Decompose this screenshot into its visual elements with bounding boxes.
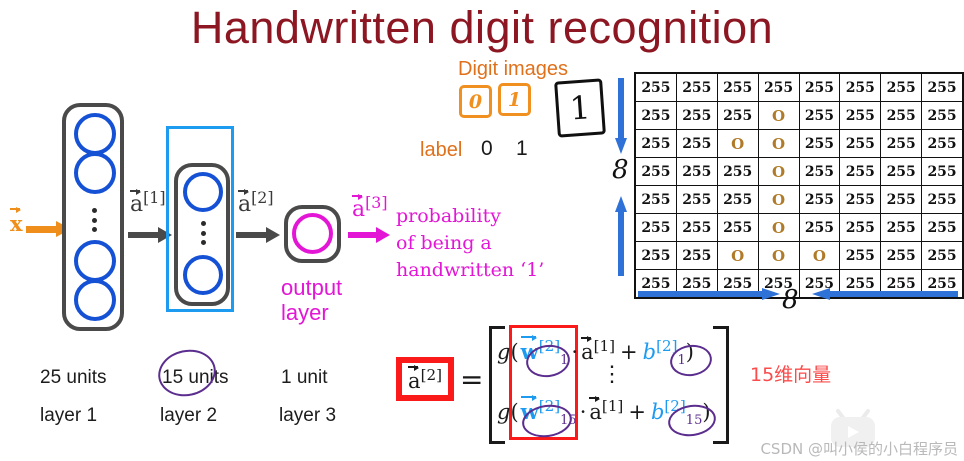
equation-plus-1: +	[620, 340, 638, 364]
label-value-0: 0	[481, 137, 493, 161]
output-layer-caption: output layer	[281, 275, 391, 325]
pixel-cell-3-3: O	[717, 130, 758, 158]
digit-sample-1: 1	[498, 83, 531, 116]
pixel-cell-6-3: 255	[717, 214, 758, 242]
pixel-cell-6-7: 255	[881, 214, 922, 242]
label-value-1: 1	[516, 137, 528, 161]
pixel-cell-4-1: 255	[635, 158, 676, 186]
pixel-cell-3-8: 255	[922, 130, 963, 158]
units-caption-layer3: 1 unit	[281, 367, 327, 389]
layer-1-node-2	[74, 152, 116, 194]
vector-dimension-note: 15维向量	[750, 360, 831, 387]
pixel-cell-6-4: O	[758, 214, 799, 242]
a2-label: a[2]	[238, 188, 274, 217]
equation-equals: =	[460, 363, 483, 396]
grid-width-label: 8	[782, 285, 799, 315]
grid-width-arrow-left	[812, 288, 960, 300]
output-layer-line-1: output	[281, 275, 391, 300]
output-arrow	[348, 228, 394, 242]
pixel-cell-5-3: 255	[717, 186, 758, 214]
pixel-cell-5-8: 255	[922, 186, 963, 214]
pixel-cell-3-2: 255	[676, 130, 717, 158]
equation-b-15: b	[651, 400, 664, 424]
layer-caption-3: layer 3	[279, 405, 336, 427]
equation-plus-15: +	[628, 400, 646, 424]
equation-a1-sup-1: [1]	[594, 337, 615, 355]
layer-1-ellipsis	[91, 208, 97, 232]
handwritten-digit-card: 1	[554, 78, 606, 137]
output-node	[292, 213, 333, 254]
grid-height-arrow-up	[615, 196, 627, 276]
pixel-cell-3-7: 255	[881, 130, 922, 158]
pixel-cell-2-2: 255	[676, 102, 717, 130]
pixel-grid-row: 255255OOO255255255	[635, 242, 963, 270]
layer-1-node-25	[74, 279, 116, 321]
equation-lhs: a	[408, 369, 421, 393]
pixel-cell-2-4: O	[758, 102, 799, 130]
circle-annotation-15-units	[154, 344, 220, 401]
probability-line-3: handwritten ‘1’	[396, 257, 586, 284]
pixel-cell-6-2: 255	[676, 214, 717, 242]
equation-dot-15: ·	[580, 400, 587, 424]
pixel-cell-4-4: O	[758, 158, 799, 186]
pixel-cell-1-3: 255	[717, 73, 758, 102]
pixel-cell-4-3: 255	[717, 158, 758, 186]
label-caption: label	[420, 139, 462, 162]
a2-highlight-box: a[2]	[396, 357, 454, 401]
layer-2-ellipsis	[200, 221, 206, 245]
equation-g-1: g	[497, 340, 510, 364]
pixel-cell-7-2: 255	[676, 242, 717, 270]
pixel-cell-2-1: 255	[635, 102, 676, 130]
digit-sample-0: 0	[459, 85, 492, 118]
pixel-cell-6-6: 255	[840, 214, 881, 242]
pixel-cell-5-4: O	[758, 186, 799, 214]
layer-1-node-24	[74, 240, 116, 282]
arrow-layer2-to-layer3	[236, 228, 282, 242]
equation-a1-sup-15: [1]	[602, 397, 623, 415]
pixel-cell-6-1: 255	[635, 214, 676, 242]
page-title: Handwritten digit recognition	[0, 0, 964, 58]
equation-vdots: ⋮	[601, 362, 623, 387]
pixel-cell-6-8: 255	[922, 214, 963, 242]
pixel-grid-row: 255255255O255255255255	[635, 102, 963, 130]
pixel-cell-5-7: 255	[881, 186, 922, 214]
pixel-cell-1-5: 255	[799, 73, 840, 102]
bracket-right	[713, 326, 729, 444]
digit-images-heading: Digit images	[458, 58, 568, 81]
watermark-text: CSDN @叫小侯的小白程序员	[760, 438, 958, 459]
pixel-cell-4-8: 255	[922, 158, 963, 186]
pixel-grid-row: 255255255O255255255255	[635, 186, 963, 214]
pixel-cell-7-4: O	[758, 242, 799, 270]
probability-text: probability of being a handwritten ‘1’	[396, 203, 586, 284]
pixel-grid-row: 255255255255255255255255	[635, 73, 963, 102]
pixel-grid-row: 255255255O255255255255	[635, 214, 963, 242]
pixel-cell-3-5: 255	[799, 130, 840, 158]
output-layer-line-2: layer	[281, 300, 391, 325]
equation-open-paren-15: (	[510, 400, 518, 424]
pixel-cell-1-4: 255	[758, 73, 799, 102]
pixel-cell-7-3: O	[717, 242, 758, 270]
pixel-grid-row: 255255255O255255255255	[635, 158, 963, 186]
pixel-cell-2-6: 255	[840, 102, 881, 130]
pixel-cell-4-6: 255	[840, 158, 881, 186]
pixel-cell-3-6: 255	[840, 130, 881, 158]
pixel-cell-4-7: 255	[881, 158, 922, 186]
grid-height-label: 8	[612, 155, 629, 185]
layer-2-node-1	[183, 172, 223, 212]
equation-open-paren-1: (	[510, 340, 518, 364]
pixel-cell-7-5: O	[799, 242, 840, 270]
grid-width-arrow-right	[638, 288, 783, 300]
pixel-cell-4-2: 255	[676, 158, 717, 186]
equation-lhs-sup: [2]	[421, 366, 442, 384]
equation-g-15: g	[497, 400, 510, 424]
pixel-cell-7-6: 255	[840, 242, 881, 270]
pixel-cell-5-2: 255	[676, 186, 717, 214]
pixel-cell-2-8: 255	[922, 102, 963, 130]
pixel-cell-1-7: 255	[881, 73, 922, 102]
slide-canvas: Handwritten digit recognition x a[1] a[2	[0, 0, 964, 461]
pixel-cell-1-6: 255	[840, 73, 881, 102]
probability-line-2: of being a	[396, 230, 586, 257]
probability-line-1: probability	[396, 203, 586, 230]
pixel-grid: 255255255255255255255255255255255O255255…	[634, 72, 964, 299]
pixel-cell-5-6: 255	[840, 186, 881, 214]
pixel-cell-2-7: 255	[881, 102, 922, 130]
pixel-cell-7-7: 255	[881, 242, 922, 270]
pixel-cell-7-1: 255	[635, 242, 676, 270]
units-caption-layer1: 25 units	[40, 367, 107, 389]
input-vector-label: x	[10, 211, 23, 236]
pixel-cell-1-2: 255	[676, 73, 717, 102]
pixel-cell-6-5: 255	[799, 214, 840, 242]
pixel-cell-4-5: 255	[799, 158, 840, 186]
pixel-cell-7-8: 255	[922, 242, 963, 270]
layer-caption-2: layer 2	[160, 405, 217, 427]
pixel-cell-2-5: 255	[799, 102, 840, 130]
a1-label: a[1]	[130, 188, 166, 217]
layer-2-node-15	[183, 255, 223, 295]
pixel-cell-1-1: 255	[635, 73, 676, 102]
equation-dot-1: ·	[571, 340, 578, 364]
pixel-cell-2-3: 255	[717, 102, 758, 130]
layer-1-node-1	[74, 113, 116, 155]
equation-a1-15: a	[589, 400, 602, 424]
equation-a1-1: a	[581, 340, 594, 364]
pixel-cell-3-1: 255	[635, 130, 676, 158]
pixel-cell-5-5: 255	[799, 186, 840, 214]
grid-height-arrow-down	[615, 78, 627, 156]
vector-arrow-bar	[10, 208, 20, 210]
a3-label: a[3]	[352, 193, 388, 222]
pixel-cell-3-4: O	[758, 130, 799, 158]
layer-caption-1: layer 1	[40, 405, 97, 427]
pixel-cell-1-8: 255	[922, 73, 963, 102]
equation-b-1: b	[643, 340, 656, 364]
pixel-cell-5-1: 255	[635, 186, 676, 214]
pixel-grid-row: 255255OO255255255255	[635, 130, 963, 158]
